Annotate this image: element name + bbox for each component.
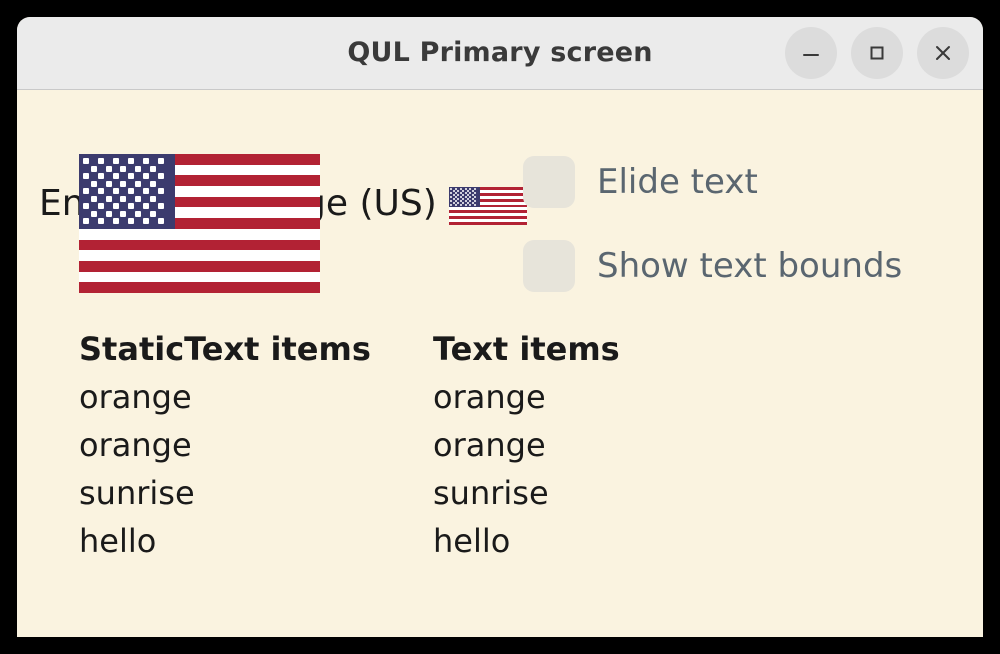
application-window: QUL Primary screen xyxy=(17,17,983,637)
checkbox-show-text-bounds[interactable]: Show text bounds xyxy=(523,240,902,292)
checkbox-label: Elide text xyxy=(597,165,758,199)
list-item: orange xyxy=(79,421,433,469)
checkbox-label: Show text bounds xyxy=(597,249,902,283)
window-controls xyxy=(785,17,969,89)
checkbox-box[interactable] xyxy=(523,240,575,292)
us-flag-icon xyxy=(449,187,527,225)
close-button[interactable] xyxy=(917,27,969,79)
flag-stars xyxy=(449,187,527,225)
checkbox-elide-text[interactable]: Elide text xyxy=(523,156,902,208)
column-heading: StaticText items xyxy=(79,325,433,373)
list-item: sunrise xyxy=(79,469,433,517)
content-area: English language (US) Elide text Show te… xyxy=(17,90,983,637)
maximize-button[interactable] xyxy=(851,27,903,79)
checkbox-box[interactable] xyxy=(523,156,575,208)
text-columns: StaticText items orange orange sunrise h… xyxy=(79,325,787,565)
us-flag-image xyxy=(79,154,320,293)
close-icon xyxy=(932,42,954,64)
static-text-column: StaticText items orange orange sunrise h… xyxy=(79,325,433,565)
list-item: hello xyxy=(433,517,787,565)
options-group: Elide text Show text bounds xyxy=(523,156,902,324)
text-items-column: Text items orange orange sunrise hello xyxy=(433,325,787,565)
minimize-button[interactable] xyxy=(785,27,837,79)
list-item: sunrise xyxy=(433,469,787,517)
list-item: hello xyxy=(79,517,433,565)
list-item: orange xyxy=(433,373,787,421)
list-item: orange xyxy=(433,421,787,469)
column-heading: Text items xyxy=(433,325,787,373)
minimize-icon xyxy=(800,42,822,64)
list-item: orange xyxy=(79,373,433,421)
title-bar: QUL Primary screen xyxy=(17,17,983,90)
flag-stars xyxy=(79,154,320,293)
maximize-icon xyxy=(866,42,888,64)
